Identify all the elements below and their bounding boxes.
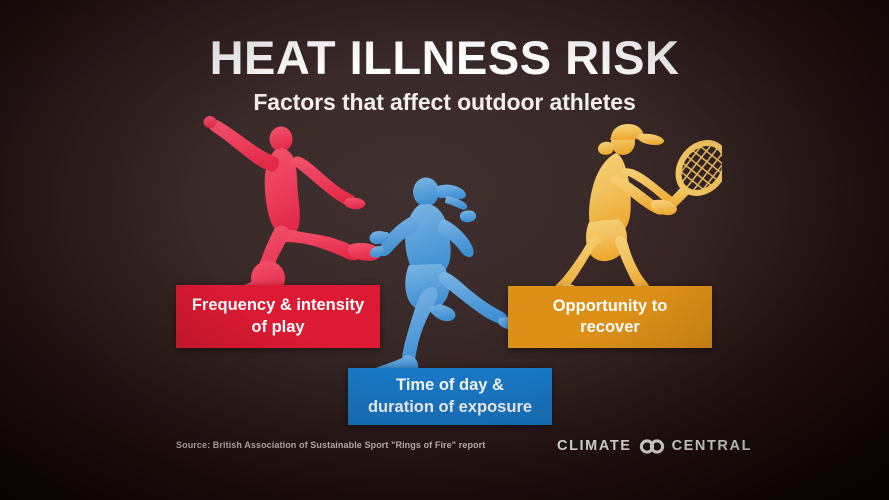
source-citation: Source: British Association of Sustainab…	[176, 440, 485, 450]
soccer-player-icon	[196, 112, 388, 294]
factor-box-recovery[interactable]: Opportunity to recover	[508, 286, 712, 348]
factor-label-line1: Time of day &	[396, 376, 504, 394]
logo-word-climate: CLIMATE	[557, 438, 632, 454]
factor-box-frequency[interactable]: Frequency & intensity of play	[176, 285, 380, 348]
factor-label-frequency: Frequency & intensity of play	[192, 295, 364, 337]
page-title: HEAT ILLNESS RISK	[0, 34, 889, 81]
factor-label-line2: duration of exposure	[368, 398, 532, 416]
runner-icon	[362, 172, 520, 370]
logo-word-central: CENTRAL	[672, 438, 752, 454]
header: HEAT ILLNESS RISK Factors that affect ou…	[0, 34, 889, 114]
factor-box-time-of-day[interactable]: Time of day & duration of exposure	[348, 368, 552, 425]
tennis-player-icon	[540, 122, 722, 298]
factor-label-line1: Opportunity to	[553, 297, 668, 315]
infographic-poster: HEAT ILLNESS RISK Factors that affect ou…	[0, 0, 889, 500]
two-interlocking-rings-icon	[639, 439, 665, 454]
page-subtitle: Factors that affect outdoor athletes	[0, 91, 889, 114]
factor-label-line1: Frequency & intensity	[192, 296, 364, 314]
climate-central-logo: CLIMATE CENTRAL	[557, 438, 752, 454]
factor-label-recovery: Opportunity to recover	[553, 296, 668, 338]
factor-label-line2: of play	[251, 318, 304, 336]
factor-label-line2: recover	[580, 318, 640, 336]
factor-label-time-of-day: Time of day & duration of exposure	[368, 375, 532, 417]
